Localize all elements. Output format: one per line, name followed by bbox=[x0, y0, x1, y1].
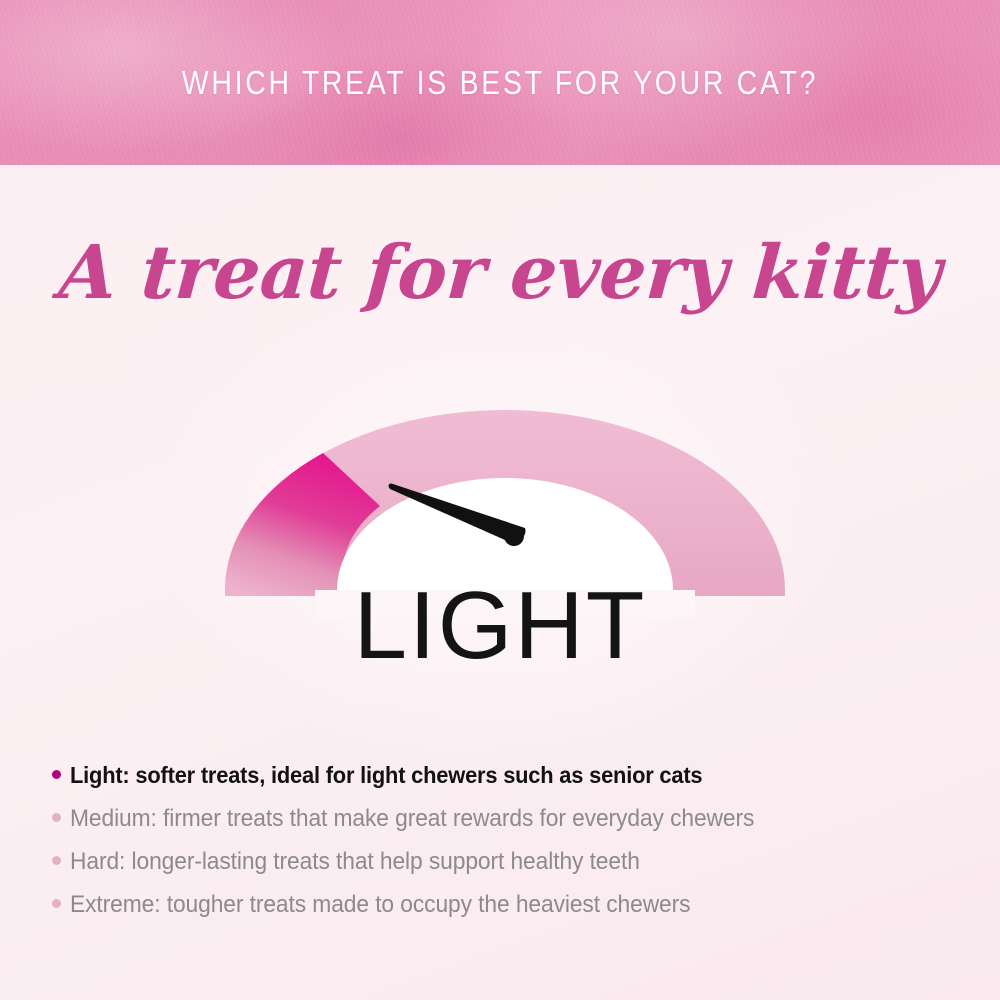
infographic-page: WHICH TREAT IS BEST FOR YOUR CAT? A trea… bbox=[0, 0, 1000, 1000]
header-title: WHICH TREAT IS BEST FOR YOUR CAT? bbox=[70, 0, 930, 165]
list-item-label: Medium: firmer treats that make great re… bbox=[70, 805, 754, 833]
list-item-label: Extreme: tougher treats made to occupy t… bbox=[70, 891, 690, 919]
list-item: Hard: longer-lasting treats that help su… bbox=[52, 848, 962, 891]
list-item: Extreme: tougher treats made to occupy t… bbox=[52, 891, 962, 934]
list-item-label: Hard: longer-lasting treats that help su… bbox=[70, 848, 640, 876]
gauge-value-label: LIGHT bbox=[0, 578, 1000, 674]
bullet-dot-icon bbox=[52, 899, 61, 908]
bullet-dot-icon bbox=[52, 856, 61, 865]
page-title: A treat for every kitty bbox=[0, 236, 1000, 310]
list-item: Light: softer treats, ideal for light ch… bbox=[52, 762, 962, 805]
list-item-label: Light: softer treats, ideal for light ch… bbox=[70, 762, 702, 789]
list-item: Medium: firmer treats that make great re… bbox=[52, 805, 962, 848]
gauge-needle-hub bbox=[504, 526, 524, 546]
bullet-dot-icon bbox=[52, 770, 61, 779]
treat-type-list: Light: softer treats, ideal for light ch… bbox=[52, 762, 962, 934]
bullet-dot-icon bbox=[52, 813, 61, 822]
